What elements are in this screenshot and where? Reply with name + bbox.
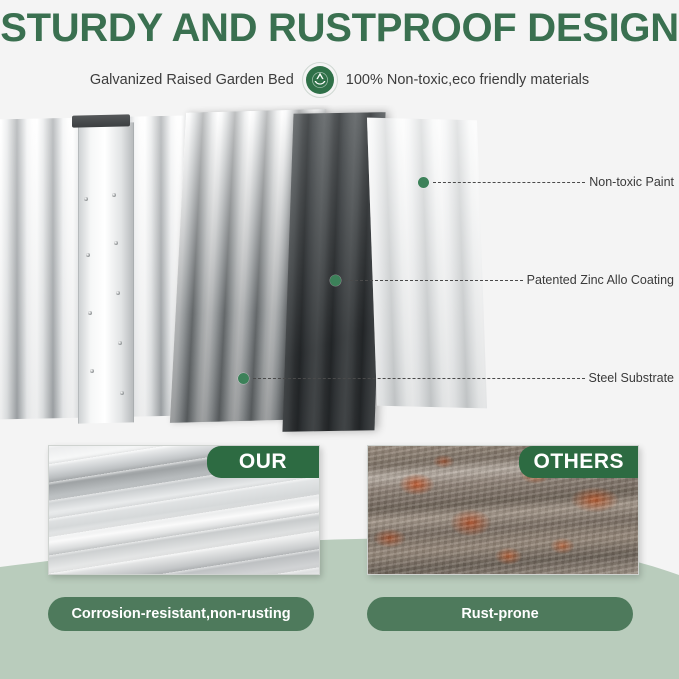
subtitle-left: Galvanized Raised Garden Bed [90,72,294,88]
screw [116,291,120,295]
screw [114,241,118,245]
callout-non-toxic-paint: Non-toxic Paint [418,174,674,190]
screw [120,391,124,395]
corner-post [78,122,134,423]
callout-label: Steel Substrate [589,371,674,385]
screw [84,197,88,201]
callout-leader-line [253,378,585,379]
callout-leader-line [345,280,523,281]
subtitle-row: Galvanized Raised Garden Bed 100% Non-to… [0,62,679,98]
comparison-section: OUR Corrosion-resistant,non-rusting OTHE… [0,445,679,679]
screw [88,311,92,315]
callout-label: Non-toxic Paint [589,175,674,189]
screw [118,341,122,345]
pill-label: Corrosion-resistant,non-rusting [71,606,290,622]
comparison-card-others: OTHERS Rust-prone [363,445,663,631]
callout-zinc-alloy-coating: Patented Zinc Allo Coating [330,272,674,288]
pill-rust-prone: Rust-prone [367,597,633,631]
callout-label: Patented Zinc Allo Coating [527,273,674,287]
header: STURDY AND RUSTPROOF DESIGN Galvanized R… [0,0,679,108]
photo-clean-galvanized-steel: OUR [48,445,320,575]
screw [112,193,116,197]
badge-our: OUR [207,446,319,478]
infographic-page: STURDY AND RUSTPROOF DESIGN Galvanized R… [0,0,679,679]
badge-others-label: OTHERS [533,450,624,474]
screw [90,369,94,373]
eco-badge-disc [306,66,334,94]
callout-dot-icon [418,177,429,188]
callout-leader-line [433,182,585,183]
comparison-card-our: OUR Corrosion-resistant,non-rusting [44,445,344,631]
pill-label: Rust-prone [461,606,538,622]
corner-post-cap [72,114,130,127]
callout-dot-icon [330,275,341,286]
pill-corrosion-resistant: Corrosion-resistant,non-rusting [48,597,314,631]
panel-layer-steel-shading [367,118,487,409]
callout-dot-icon [238,373,249,384]
subtitle-right: 100% Non-toxic,eco friendly materials [346,72,589,88]
badge-our-label: OUR [239,450,287,474]
screw [86,253,90,257]
page-title: STURDY AND RUSTPROOF DESIGN [0,6,679,51]
badge-others: OTHERS [519,446,638,478]
callout-steel-substrate: Steel Substrate [238,370,674,386]
photo-rusted-steel: OTHERS [367,445,639,575]
eco-leaf-recycle-icon [302,62,338,98]
